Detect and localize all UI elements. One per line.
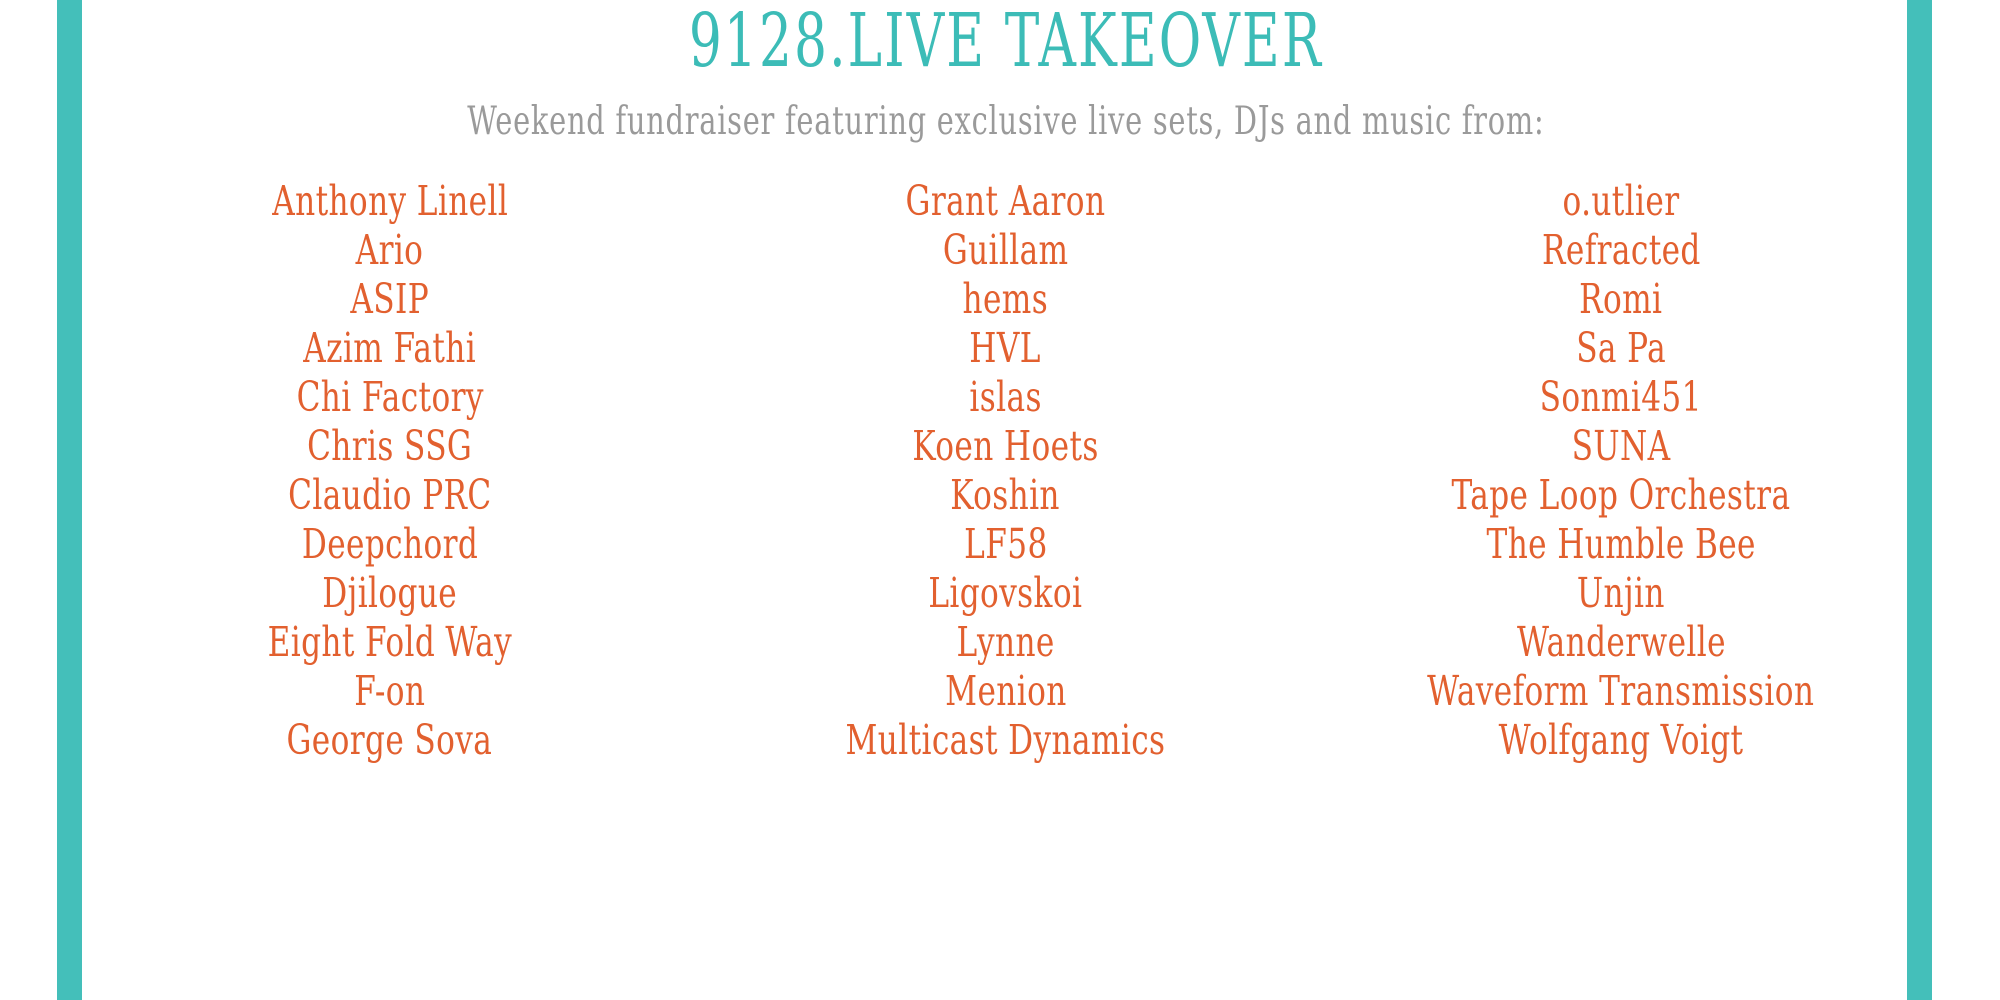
artist-name: Azim Fathi	[303, 324, 476, 373]
artist-name: hems	[963, 275, 1049, 324]
poster-content: 9128.LIVE TAKEOVER Weekend fundraiser fe…	[82, 0, 1929, 1000]
artist-name: Koshin	[951, 471, 1061, 520]
artist-name: Sonmi451	[1540, 373, 1702, 422]
artist-name: Wanderwelle	[1517, 618, 1726, 667]
artist-name: Lynne	[956, 618, 1054, 667]
artist-name: Grant Aaron	[906, 177, 1106, 226]
artist-column-1: Anthony LinellArioASIPAzim FathiChi Fact…	[82, 177, 698, 765]
artist-name: Tape Loop Orchestra	[1452, 471, 1791, 520]
artist-name: LF58	[964, 520, 1047, 569]
artist-name: HVL	[970, 324, 1042, 373]
left-accent-rail	[57, 0, 82, 1000]
artist-name: Menion	[945, 667, 1066, 716]
artist-name: Ario	[356, 226, 424, 275]
artist-name: F-on	[354, 667, 425, 716]
artist-name: Chi Factory	[296, 373, 483, 422]
artist-column-3: o.utlierRefractedRomiSa PaSonmi451SUNATa…	[1313, 177, 1929, 765]
artist-column-2: Grant AaronGuillamhemsHVLislasKoen Hoets…	[698, 177, 1314, 765]
artist-name: islas	[969, 373, 1041, 422]
artist-name: Ligovskoi	[929, 569, 1083, 618]
poster-canvas: 9128.LIVE TAKEOVER Weekend fundraiser fe…	[0, 0, 2000, 1000]
artist-name: Romi	[1580, 275, 1663, 324]
artist-name: Anthony Linell	[272, 177, 508, 226]
artist-name: Wolfgang Voigt	[1499, 716, 1744, 765]
poster-subtitle: Weekend fundraiser featuring exclusive l…	[467, 102, 1544, 141]
artist-name: Koen Hoets	[912, 422, 1098, 471]
artist-name: Deepchord	[302, 520, 478, 569]
artist-name: Guillam	[943, 226, 1069, 275]
artist-lineup: Anthony LinellArioASIPAzim FathiChi Fact…	[82, 177, 1929, 765]
artist-name: SUNA	[1572, 422, 1671, 471]
page-title: 9128.LIVE TAKEOVER	[688, 4, 1322, 78]
artist-name: Unjin	[1577, 569, 1665, 618]
artist-name: Multicast Dynamics	[846, 716, 1166, 765]
artist-name: Sa Pa	[1576, 324, 1666, 373]
artist-name: Waveform Transmission	[1428, 667, 1815, 716]
artist-name: Chris SSG	[307, 422, 472, 471]
artist-name: o.utlier	[1563, 177, 1680, 226]
artist-name: George Sova	[287, 716, 493, 765]
artist-name: Refracted	[1542, 226, 1701, 275]
artist-name: ASIP	[351, 275, 430, 324]
artist-name: The Humble Bee	[1486, 520, 1755, 569]
artist-name: Eight Fold Way	[268, 618, 512, 667]
artist-name: Claudio PRC	[288, 471, 491, 520]
artist-name: Djilogue	[322, 569, 457, 618]
